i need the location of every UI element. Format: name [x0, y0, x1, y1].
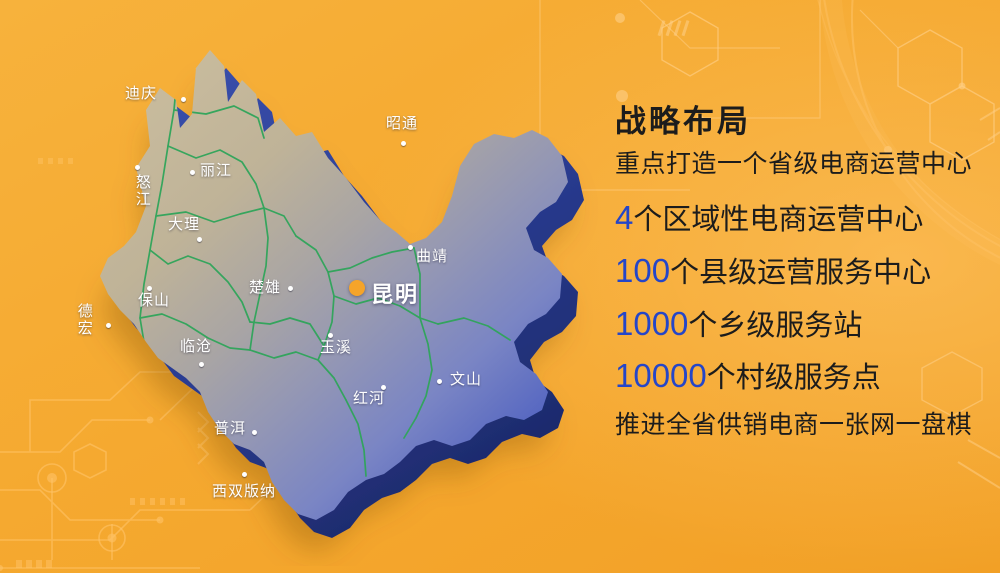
city-dot	[252, 430, 257, 435]
stat-row-village: 10000个村级服务点	[615, 357, 995, 396]
city-dot	[190, 170, 195, 175]
strategy-panel: 战略布局 重点打造一个省级电商运营中心 4个区域性电商运营中心 100个县级运营…	[615, 104, 995, 440]
stat-row-county: 100个县级运营服务中心	[615, 252, 995, 291]
poster-canvas: 迪庆 丽江 怒江 大理 保山 德宏 楚雄 昭通	[0, 0, 1000, 573]
city-dot	[437, 379, 442, 384]
stat-text: 个县级运营服务中心	[670, 257, 931, 289]
city-dot	[135, 165, 140, 170]
city-dot	[288, 286, 293, 291]
city-dot	[401, 141, 406, 146]
city-dot	[181, 97, 186, 102]
city-dot	[106, 323, 111, 328]
stat-number: 1000	[615, 305, 688, 342]
lead-statement: 重点打造一个省级电商运营中心	[615, 149, 995, 179]
stat-row-regional: 4个区域性电商运营中心	[615, 199, 995, 238]
capital-dot	[349, 280, 365, 296]
stat-number: 4	[615, 199, 633, 236]
page-title: 战略布局	[615, 104, 995, 140]
yunnan-map-svg	[28, 6, 608, 566]
city-dot	[242, 472, 247, 477]
city-dot	[197, 237, 202, 242]
stat-text: 个区域性电商运营中心	[633, 204, 923, 236]
stat-number: 10000	[615, 357, 707, 394]
closing-statement: 推进全省供销电商一张网一盘棋	[615, 410, 995, 440]
stat-row-township: 1000个乡级服务站	[615, 305, 995, 344]
city-dot	[408, 245, 413, 250]
stat-text: 个村级服务点	[707, 362, 881, 394]
city-dot	[328, 333, 333, 338]
city-dot	[147, 286, 152, 291]
yunnan-map[interactable]: 迪庆 丽江 怒江 大理 保山 德宏 楚雄 昭通	[28, 6, 608, 566]
city-dot	[381, 385, 386, 390]
stat-number: 100	[615, 252, 670, 289]
stat-text: 个乡级服务站	[688, 310, 862, 342]
city-dot	[199, 362, 204, 367]
map-body	[100, 50, 568, 520]
